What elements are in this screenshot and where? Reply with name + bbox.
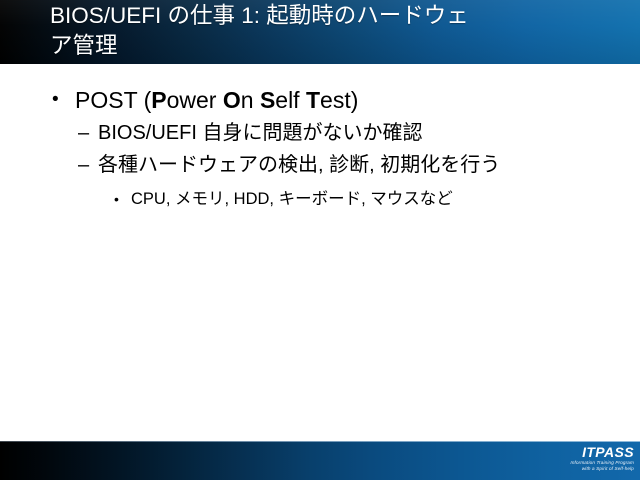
itpass-logo-tagline-line2: with a Spirit of Self-help (556, 466, 634, 472)
bullet-marker-dot: • (52, 86, 59, 114)
post-seg-1: P (151, 87, 166, 113)
bullet-text-hardware-detect: 各種ハードウェアの検出, 診断, 初期化を行う (98, 152, 500, 178)
bullet-marker-dash: – (78, 120, 89, 146)
post-seg-7: T (306, 87, 320, 113)
footer-band (0, 441, 640, 480)
bullet-level3-device-list: • CPU, メモリ, HDD, キーボード, マウスなど (0, 188, 640, 210)
post-seg-6: elf (275, 87, 306, 113)
post-seg-0: POST ( (75, 87, 151, 113)
itpass-logo-wordmark: ITPASS (556, 445, 634, 460)
itpass-logo: ITPASS Information Training Program with… (556, 445, 634, 472)
bullet-level2-selfcheck: – BIOS/UEFI 自身に問題がないか確認 (0, 120, 640, 146)
bullet-text-selfcheck: BIOS/UEFI 自身に問題がないか確認 (98, 120, 422, 146)
post-seg-3: O (223, 87, 241, 113)
slide-title: BIOS/UEFI の仕事 1: 起動時のハードウェ ア管理 (50, 1, 610, 61)
bullet-marker-dash: – (78, 152, 89, 178)
post-seg-5: S (260, 87, 275, 113)
bullet-level1-post: • POST (Power On Self Test) (0, 86, 640, 114)
footer-top-divider (0, 441, 640, 442)
post-seg-8: est) (320, 87, 358, 113)
post-seg-4: n (241, 87, 260, 113)
slide: BIOS/UEFI の仕事 1: 起動時のハードウェ ア管理 • POST (P… (0, 0, 640, 480)
bullet-level2-hardware-detect: – 各種ハードウェアの検出, 診断, 初期化を行う (0, 152, 640, 178)
post-seg-2: ower (167, 87, 223, 113)
bullet-text-post: POST (Power On Self Test) (75, 86, 358, 114)
slide-body: • POST (Power On Self Test) – BIOS/UEFI … (0, 64, 640, 441)
bullet-text-device-list: CPU, メモリ, HDD, キーボード, マウスなど (131, 188, 453, 210)
bullet-marker-dot: • (114, 188, 119, 210)
